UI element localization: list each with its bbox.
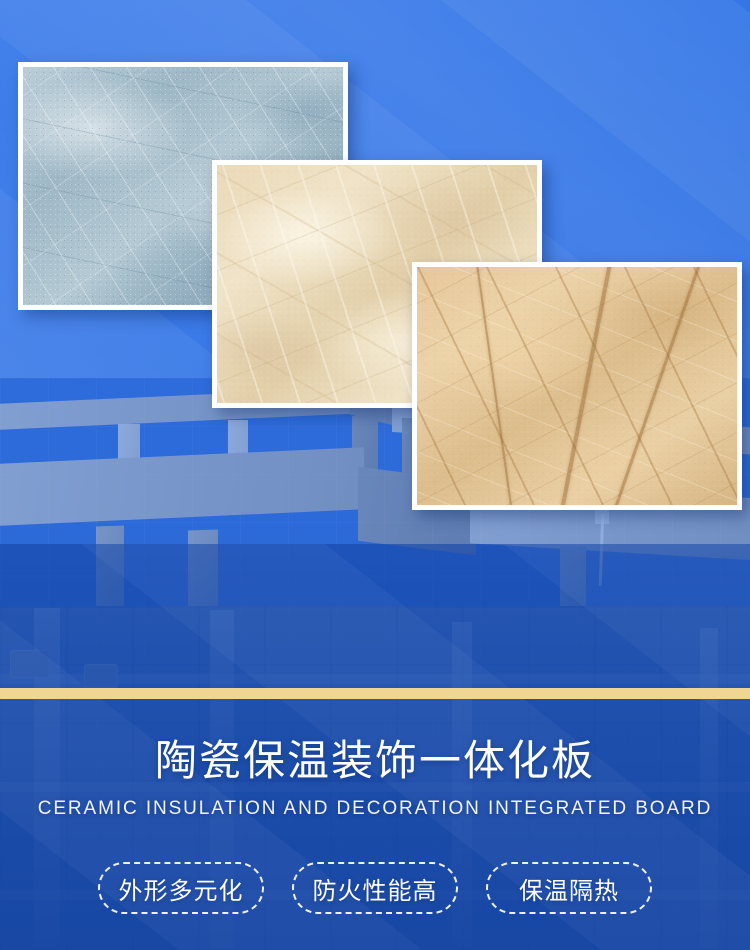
product-headline: 有釉面发泡陶瓷保温板 [6,595,744,667]
tile-sample-3[interactable] [412,262,742,510]
tile-sample-3-surface [417,267,737,505]
gold-divider-bar [0,688,750,699]
feature-tag-1[interactable]: 外形多元化 [98,862,264,914]
headline-container: 有釉面发泡陶瓷保温板 [0,588,750,674]
feature-tag-3[interactable]: 保温隔热 [486,862,652,914]
tan-marble-speckle [417,267,737,505]
subtitle-english: CERAMIC INSULATION AND DECORATION INTEGR… [0,798,750,820]
product-banner: 有釉面发泡陶瓷保温板 陶瓷保温装饰一体化板 CERAMIC INSULATION… [0,0,750,950]
subtitle-chinese: 陶瓷保温装饰一体化板 [0,738,750,784]
feature-tag-list: 外形多元化 防火性能高 保温隔热 [0,862,750,914]
feature-tag-2[interactable]: 防火性能高 [292,862,458,914]
